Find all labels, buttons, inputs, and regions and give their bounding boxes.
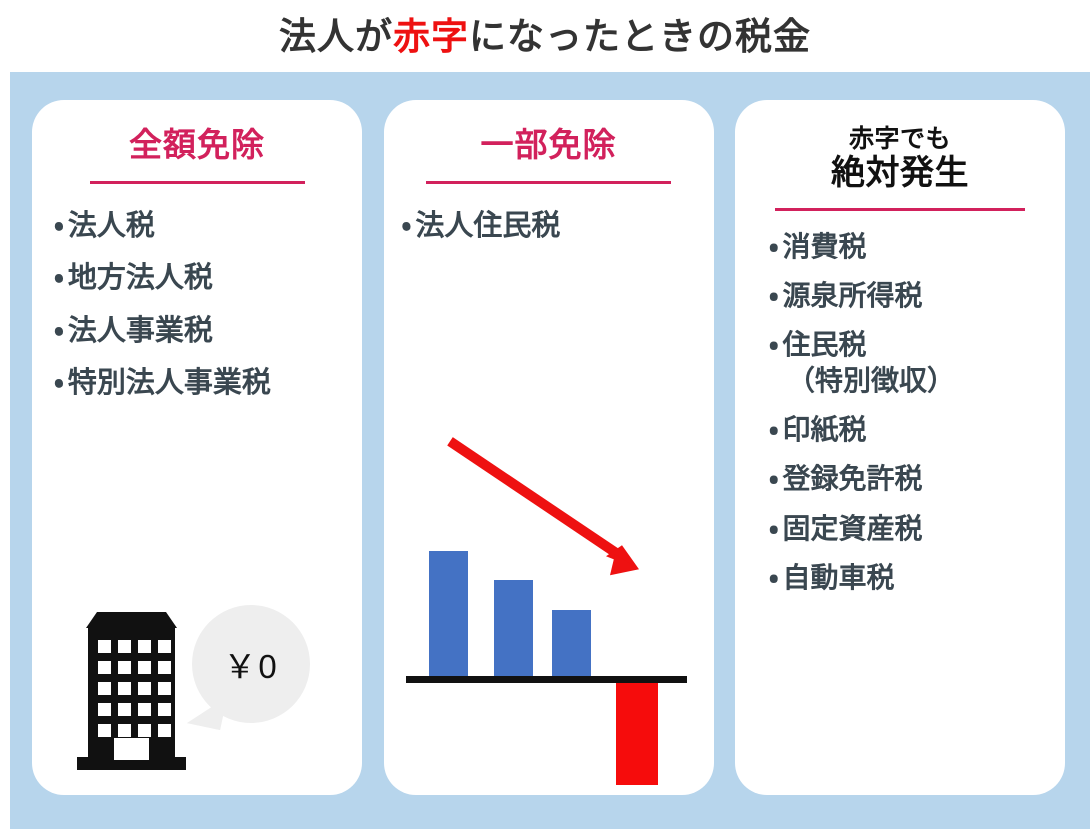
list-item: ・登録免許税 (769, 463, 1065, 494)
chart-bar-3 (552, 610, 591, 676)
bullet-icon: ・ (54, 315, 64, 347)
tax-list-full-exemption: ・法人税 ・地方法人税 ・法人事業税 ・特別法人事業税 (32, 184, 362, 420)
chart-bar-2 (494, 580, 533, 676)
bullet-icon: ・ (402, 210, 412, 242)
card-title-line1: 赤字でも (735, 126, 1065, 154)
bullet-icon: ・ (54, 210, 64, 242)
bullet-icon: ・ (769, 562, 779, 593)
list-item: ・住民税 （特別徴収） (769, 329, 1065, 396)
bullet-icon: ・ (54, 262, 64, 294)
card-full-exemption: 全額免除 ・法人税 ・地方法人税 ・法人事業税 ・特別法人事業税 (32, 100, 362, 795)
card-title-full-exemption: 全額免除 (32, 126, 362, 165)
list-item: ・印紙税 (769, 414, 1065, 445)
tax-name-sub: （特別徴収） (769, 365, 1065, 396)
bullet-icon: ・ (769, 329, 779, 360)
chart-bar-1 (429, 551, 468, 676)
list-item: ・固定資産税 (769, 513, 1065, 544)
card-title-line2: 絶対発生 (735, 154, 1065, 192)
list-item: ・自動車税 (769, 562, 1065, 593)
card-graphic-bar-chart (384, 262, 714, 795)
tax-name: 特別法人事業税 (68, 367, 271, 399)
chart-bar-4-negative (616, 683, 658, 785)
card-title-partial-exemption: 一部免除 (384, 126, 714, 165)
tax-name: 自動車税 (783, 562, 895, 593)
tax-name: 住民税 (783, 329, 867, 360)
list-item: ・法人住民税 (402, 210, 714, 242)
tax-name: 固定資産税 (783, 513, 923, 544)
list-item: ・法人事業税 (54, 315, 362, 347)
tax-name: 源泉所得税 (783, 280, 923, 311)
tax-name: 法人税 (68, 210, 155, 242)
tax-name: 登録免許税 (783, 463, 923, 494)
list-item: ・特別法人事業税 (54, 367, 362, 399)
tax-name: 法人事業税 (68, 315, 213, 347)
card-graphic-building: ￥0 (32, 420, 362, 795)
card-header: 赤字でも 絶対発生 (735, 100, 1065, 211)
card-title-always-incurred: 赤字でも 絶対発生 (735, 126, 1065, 192)
page-title-accent: 赤字 (393, 16, 469, 57)
bullet-icon: ・ (769, 231, 779, 262)
tax-name: 消費税 (783, 231, 867, 262)
page-title-suffix: になったときの税金 (469, 16, 811, 57)
list-item: ・地方法人税 (54, 262, 362, 294)
bullet-icon: ・ (54, 367, 64, 399)
bullet-icon: ・ (769, 414, 779, 445)
page-title-bar: 法人が赤字になったときの税金 (0, 0, 1090, 72)
list-item: ・源泉所得税 (769, 280, 1065, 311)
office-building-icon (74, 606, 189, 773)
content-stage: 全額免除 ・法人税 ・地方法人税 ・法人事業税 ・特別法人事業税 (10, 72, 1090, 829)
tax-list-partial-exemption: ・法人住民税 (384, 184, 714, 262)
tax-name: 地方法人税 (68, 262, 213, 294)
list-item: ・法人税 (54, 210, 362, 242)
list-item: ・消費税 (769, 231, 1065, 262)
speech-bubble-text: ￥0 (223, 640, 278, 688)
declining-bar-chart (384, 262, 714, 795)
tax-name: 法人住民税 (415, 210, 560, 242)
bullet-icon: ・ (769, 280, 779, 311)
page-title: 法人が赤字になったときの税金 (279, 18, 811, 55)
card-header: 全額免除 (32, 100, 362, 184)
page-title-prefix: 法人が (279, 16, 393, 57)
chart-baseline (406, 676, 687, 683)
speech-bubble: ￥0 (192, 605, 310, 723)
bullet-icon: ・ (769, 513, 779, 544)
card-header: 一部免除 (384, 100, 714, 184)
card-always-incurred: 赤字でも 絶対発生 ・消費税 ・源泉所得税 ・住民税 （特別徴収） ・印紙税 ・… (735, 100, 1065, 795)
tax-list-always-incurred: ・消費税 ・源泉所得税 ・住民税 （特別徴収） ・印紙税 ・登録免許税 ・固定資… (735, 211, 1065, 612)
tax-name: 印紙税 (783, 414, 867, 445)
down-trend-arrow-icon (384, 262, 714, 795)
card-partial-exemption: 一部免除 ・法人住民税 (384, 100, 714, 795)
bullet-icon: ・ (769, 463, 779, 494)
